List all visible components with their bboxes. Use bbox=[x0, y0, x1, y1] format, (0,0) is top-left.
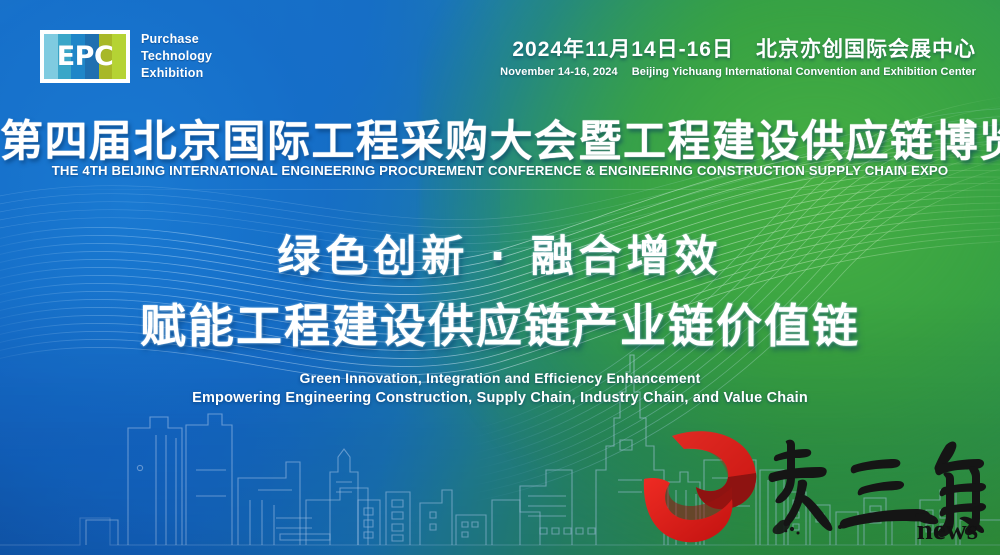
logo-word-purchase: Purchase bbox=[141, 31, 212, 48]
event-poster: EPC Purchase Technology Exhibition 2024年… bbox=[0, 0, 1000, 555]
event-date-cn: 2024年11月14日-16日 bbox=[512, 38, 734, 61]
theme-english-line-2: Empowering Engineering Construction, Sup… bbox=[0, 390, 1000, 406]
epc-logo-wordmark: Purchase Technology Exhibition bbox=[141, 31, 212, 82]
red-sphere-icon bbox=[644, 431, 756, 542]
watermark-artwork: news bbox=[640, 421, 988, 549]
theme-chinese-line-2: 赋能工程建设供应链产业链价值链 bbox=[0, 290, 1000, 356]
theme-block: 绿色创新 · 融合增效 赋能工程建设供应链产业链价值链 Green Innova… bbox=[0, 222, 1000, 406]
logo-word-technology: Technology bbox=[141, 48, 212, 65]
theme-chinese-line-1: 绿色创新 · 融合增效 bbox=[0, 222, 1000, 284]
main-title-chinese: 第四届北京国际工程采购大会暨工程建设供应链博览会 bbox=[0, 107, 1000, 169]
logo-word-exhibition: Exhibition bbox=[141, 65, 212, 82]
date-venue-block: 2024年11月14日-16日北京亦创国际会展中心 November 14-16… bbox=[500, 33, 976, 78]
theme-english-line-1: Green Innovation, Integration and Effici… bbox=[0, 370, 1000, 386]
changsanjiao-news-watermark: news bbox=[640, 421, 988, 549]
event-date-en: November 14-16, 2024 bbox=[500, 66, 618, 78]
epc-logo: EPC Purchase Technology Exhibition bbox=[40, 30, 212, 83]
main-title-english: THE 4TH BEIJING INTERNATIONAL ENGINEERIN… bbox=[0, 163, 1000, 178]
poster-header: EPC Purchase Technology Exhibition 2024年… bbox=[0, 0, 1000, 100]
title-divider bbox=[22, 189, 978, 190]
epc-logo-letters: EPC bbox=[42, 32, 128, 81]
event-venue-cn: 北京亦创国际会展中心 bbox=[756, 38, 976, 61]
brand-news-text: news bbox=[917, 514, 978, 546]
date-venue-chinese: 2024年11月14日-16日北京亦创国际会展中心 bbox=[500, 33, 976, 63]
event-venue-en: Beijing Yichuang International Conventio… bbox=[632, 66, 976, 78]
date-venue-english: November 14-16, 2024Beijing Yichuang Int… bbox=[500, 66, 976, 78]
epc-logo-mark: EPC bbox=[40, 30, 130, 83]
